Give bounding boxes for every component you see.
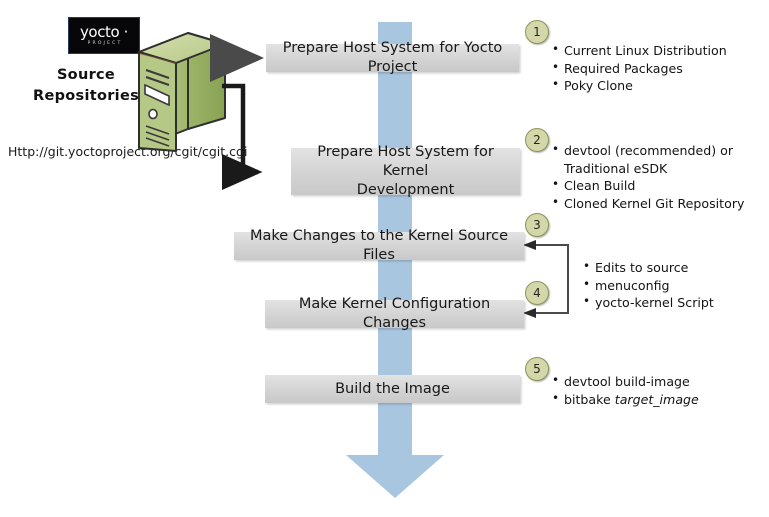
process-box-step-3[interactable]: Make Changes to the Kernel Source Files bbox=[234, 232, 524, 260]
process-box-step-5-label: Build the Image bbox=[335, 380, 450, 399]
step-number-3: 3 bbox=[525, 213, 549, 237]
process-box-step-2-label-line2: Development bbox=[357, 181, 455, 200]
step-1-bullets: Current Linux Distribution Required Pack… bbox=[552, 42, 727, 95]
workflow-down-arrow-icon bbox=[344, 437, 446, 499]
server-tower-icon bbox=[136, 30, 228, 152]
process-box-step-2-label-line1: Prepare Host System for Kernel bbox=[299, 143, 512, 181]
source-repositories-label: Source Repositories bbox=[26, 65, 146, 107]
list-item: devtool build-image bbox=[552, 373, 699, 391]
list-item: Required Packages bbox=[552, 60, 727, 78]
list-item: Edits to source bbox=[583, 259, 714, 277]
step-5-bullets: devtool build-image bitbake target_image bbox=[552, 373, 699, 408]
bitbake-command-prefix: bitbake bbox=[564, 392, 615, 407]
list-item: yocto-kernel Script bbox=[583, 294, 714, 312]
workflow-diagram: yocto · PROJECT Source Repositories Http… bbox=[0, 0, 769, 517]
source-label-line1: Source bbox=[26, 65, 146, 86]
step-number-2: 2 bbox=[525, 128, 549, 152]
list-item: menuconfig bbox=[583, 277, 714, 295]
steps-3-4-shared-bullets: Edits to source menuconfig yocto-kernel … bbox=[583, 259, 714, 312]
list-item: Current Linux Distribution bbox=[552, 42, 727, 60]
process-box-step-4-label: Make Kernel Configuration Changes bbox=[273, 295, 516, 333]
step-number-1: 1 bbox=[525, 20, 549, 44]
logo-subtext: PROJECT bbox=[86, 40, 123, 47]
source-label-line2: Repositories bbox=[26, 86, 146, 107]
process-box-step-2[interactable]: Prepare Host System for Kernel Developme… bbox=[291, 148, 520, 195]
process-box-step-1[interactable]: Prepare Host System for Yocto Project bbox=[266, 44, 519, 72]
process-box-step-3-label: Make Changes to the Kernel Source Files bbox=[242, 227, 516, 265]
step-number-4: 4 bbox=[525, 281, 549, 305]
bitbake-target-image-param: target_image bbox=[615, 392, 699, 407]
step-2-bullets: devtool (recommended) or Traditional eSD… bbox=[552, 142, 769, 212]
step-number-5: 5 bbox=[525, 357, 549, 381]
process-box-step-1-label: Prepare Host System for Yocto Project bbox=[274, 39, 511, 77]
list-item: Poky Clone bbox=[552, 77, 727, 95]
process-box-step-5[interactable]: Build the Image bbox=[265, 375, 520, 403]
list-item: Clean Build bbox=[552, 177, 769, 195]
list-item: bitbake target_image bbox=[552, 391, 699, 409]
list-item-text: devtool (recommended) or Traditional eSD… bbox=[564, 143, 733, 176]
list-item: devtool (recommended) or Traditional eSD… bbox=[552, 142, 769, 177]
process-box-step-4[interactable]: Make Kernel Configuration Changes bbox=[265, 300, 524, 328]
yocto-project-logo: yocto · PROJECT bbox=[68, 17, 140, 54]
list-item: Cloned Kernel Git Repository bbox=[552, 195, 769, 213]
logo-wordmark: yocto · bbox=[80, 25, 128, 40]
